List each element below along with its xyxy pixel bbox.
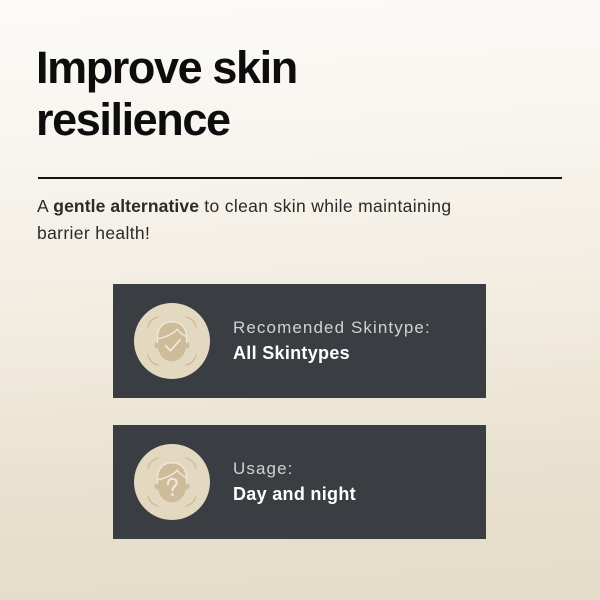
card-label: Usage: xyxy=(233,458,474,480)
page-title: Improve skin resilience xyxy=(36,42,456,146)
info-card-usage[interactable]: Usage: Day and night xyxy=(113,425,486,539)
card-text-block: Recomended Skintype: All Skintypes xyxy=(233,317,486,365)
subtitle-text: A gentle alternative to clean skin while… xyxy=(37,193,477,247)
face-check-icon xyxy=(134,303,210,379)
face-question-icon xyxy=(134,444,210,520)
card-label: Recomended Skintype: xyxy=(233,317,474,339)
title-divider xyxy=(38,177,562,179)
card-value: Day and night xyxy=(233,483,474,506)
card-value: All Skintypes xyxy=(233,342,474,365)
card-text-block: Usage: Day and night xyxy=(233,458,486,506)
product-info-poster: Improve skin resilience A gentle alterna… xyxy=(0,0,600,600)
subtitle-emphasis: gentle alternative xyxy=(53,196,199,216)
info-card-skintype[interactable]: Recomended Skintype: All Skintypes xyxy=(113,284,486,398)
subtitle-lead: A xyxy=(37,196,53,216)
